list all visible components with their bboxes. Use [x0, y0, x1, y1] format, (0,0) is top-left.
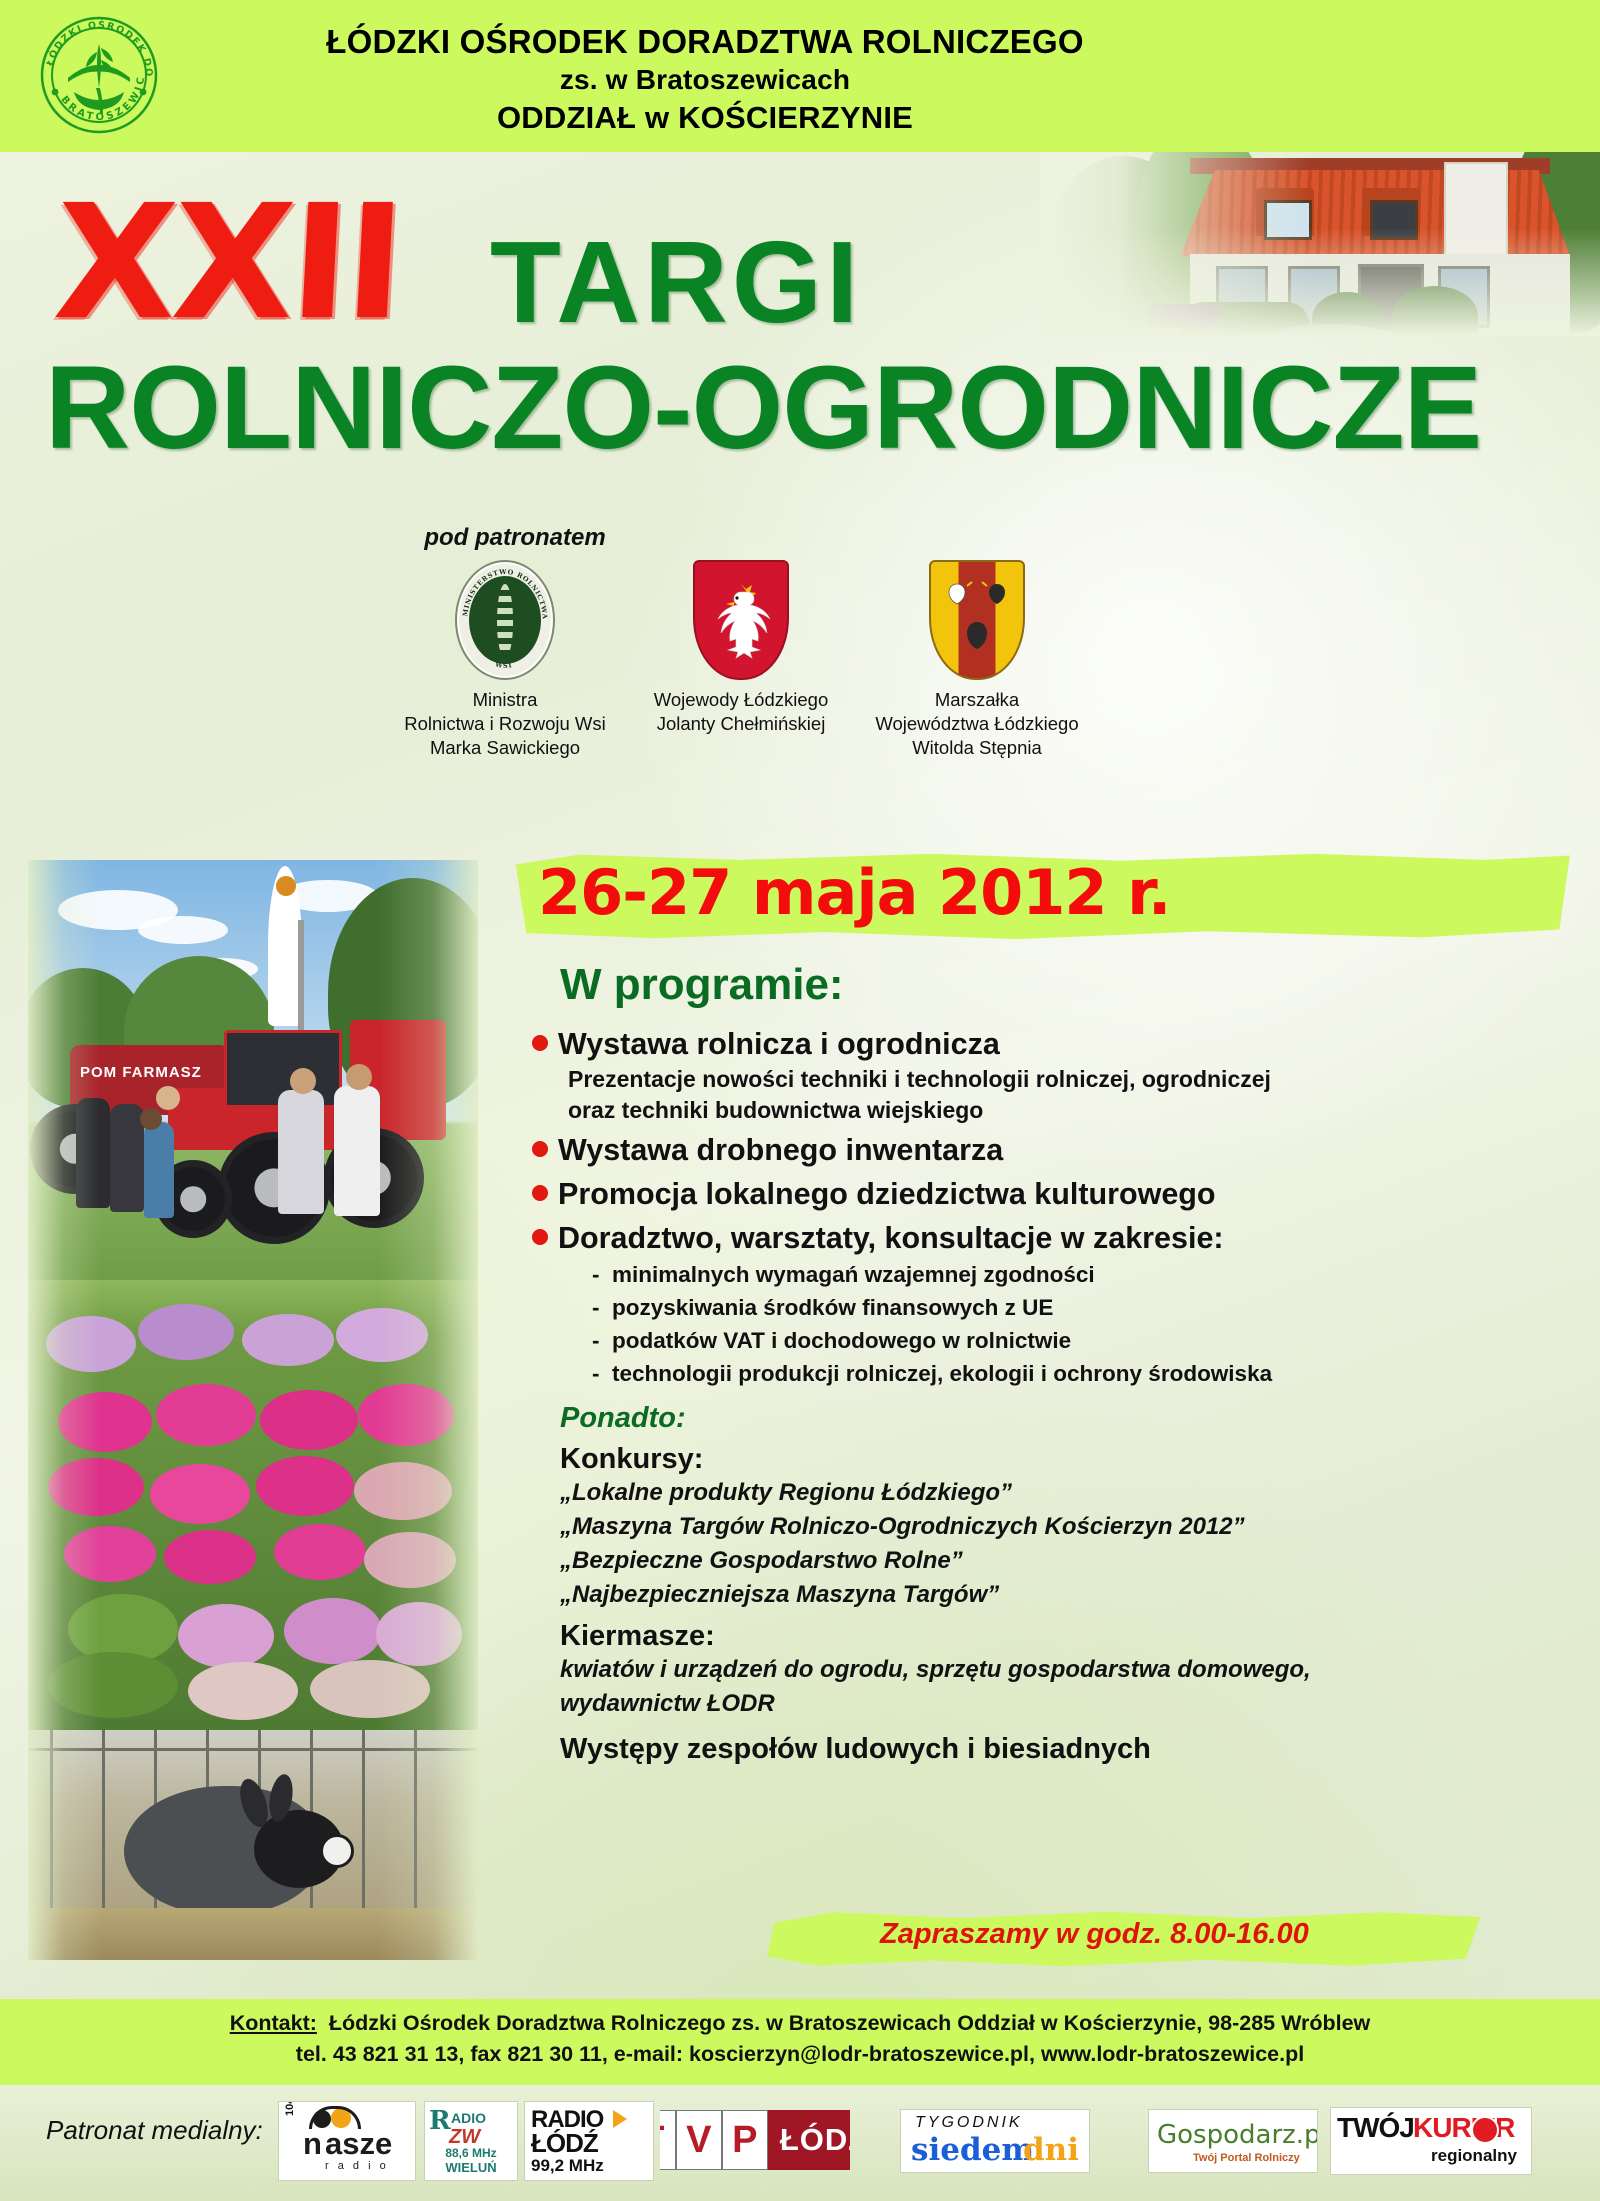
- svg-text:WSI: WSI: [493, 660, 513, 670]
- gospodarz-sub: Twój Portal Rolniczy: [1193, 2152, 1300, 2164]
- program-bullet: Wystawa drobnego inwentarza: [560, 1130, 1570, 1170]
- tygodnik-siedem-dni-logo[interactable]: TYGODNIK siedem dni: [900, 2109, 1090, 2173]
- program-bullet: Promocja lokalnego dziedzictwa kulturowe…: [560, 1174, 1570, 1214]
- program-heading: W programie:: [560, 960, 1570, 1010]
- tvp-letter-p: P: [722, 2110, 768, 2170]
- radio-zw-logo[interactable]: R ADIO ZW 88,6 MHz WIELUŃ: [424, 2101, 518, 2181]
- lodz-voivodeship-coat-of-arms-icon: [929, 560, 1025, 680]
- crest-marshal: Marszałka Województwa Łódzkiego Witolda …: [872, 560, 1082, 760]
- gospodarz-main: Gospodarz.pl: [1157, 2120, 1318, 2150]
- ponadto-heading: Ponadto:: [560, 1402, 1570, 1435]
- bullet-main-2: Promocja lokalnego dziedzictwa kulturowe…: [558, 1174, 1216, 1214]
- tvp-region: ŁÓDŹ: [768, 2110, 850, 2170]
- contact-bar: Kontakt: Łódzki Ośrodek Doradztwa Rolnic…: [0, 1999, 1600, 2079]
- tent-label: POM FARMASZ: [80, 1064, 202, 1081]
- bullet-dot-icon: [532, 1229, 548, 1245]
- siedem-word: siedem: [911, 2132, 1034, 2168]
- konkurs-item-0: „Lokalne produkty Regionu Łódzkiego”: [560, 1476, 1570, 1510]
- kurier-word1: TWÓJ: [1337, 2112, 1414, 2144]
- dash-item-1: - pozyskiwania środków finansowych z UE: [592, 1291, 1272, 1324]
- twoj-kurier-regionalny-logo[interactable]: TWÓJ KURIER regionalny: [1330, 2107, 1532, 2175]
- svg-text:MINISTERSTWO ROLNICTWA I ROZWO: MINISTERSTWO ROLNICTWA I ROZWOJU: [457, 562, 549, 623]
- header-line-3: ODDZIAŁ w KOŚCIERZYNIE: [200, 98, 1210, 138]
- nasze-radio-main: asze: [325, 2128, 392, 2159]
- crest-ministry-line1: Ministra: [400, 688, 610, 712]
- crest-marshal-line2: Województwa Łódzkiego: [872, 712, 1082, 736]
- tvp-letter-v: V: [676, 2110, 722, 2170]
- hydrangea-photo: [28, 1280, 478, 1730]
- header-title-block: ŁÓDZKI OŚRODEK DORADZTWA ROLNICZEGO zs. …: [200, 22, 1210, 138]
- header-line-1: ŁÓDZKI OŚRODEK DORADZTWA ROLNICZEGO: [200, 22, 1210, 62]
- photo-collage: POM FARMASZ: [28, 860, 498, 1960]
- media-top-divider: [0, 2079, 1600, 2085]
- kiermasz-item-0: kwiatów i urządzeń do ogrodu, sprzętu go…: [560, 1653, 1570, 1687]
- program-bullet: Doradztwo, warsztaty, konsultacje w zakr…: [560, 1218, 1570, 1390]
- program-bullet: Wystawa rolnicza i ogrodnicza Prezentacj…: [560, 1024, 1570, 1126]
- dni-word: dni: [1023, 2132, 1079, 2168]
- radio-lodz-freq: 99,2 MHz: [531, 2156, 604, 2176]
- header-line-2: zs. w Bratoszewicach: [200, 62, 1210, 98]
- ministry-of-agriculture-emblem-icon: MINISTERSTWO ROLNICTWA I ROZWOJU WSI: [455, 560, 555, 680]
- odr-logo-icon: ŁÓDZKI OŚRODEK DORADZTWA ROLNICZEGO BRAT…: [38, 14, 160, 136]
- nasze-radio-sub: r a d i o: [325, 2160, 389, 2172]
- nasze-radio-freq: 104.7 fm: [284, 2101, 296, 2116]
- gospodarz-pl-logo[interactable]: Gospodarz.pl Twój Portal Rolniczy: [1148, 2109, 1318, 2173]
- bullet-dot-icon: [532, 1141, 548, 1157]
- tygodnik-top: TYGODNIK: [915, 2114, 1023, 2132]
- kiermasz-item-1: wydawnictw ŁODR: [560, 1687, 1570, 1721]
- contact-label: Kontakt:: [230, 2011, 317, 2035]
- tvp-letter-t: T: [660, 2110, 676, 2170]
- title-word-targi: TARGI: [490, 224, 862, 340]
- bullet-dot-icon: [532, 1185, 548, 1201]
- program-section: W programie: Wystawa rolnicza i ogrodnic…: [560, 960, 1570, 1766]
- edition-number: XXII: [51, 188, 404, 338]
- contact-line-1: Kontakt: Łódzki Ośrodek Doradztwa Rolnic…: [0, 2008, 1600, 2039]
- crest-ministry-line2: Rolnictwa i Rozwoju Wsi: [400, 712, 610, 736]
- kiermasze-heading: Kiermasze:: [560, 1620, 1570, 1653]
- kurier-sub: regionalny: [1431, 2146, 1517, 2166]
- kurier-word2: KURIER: [1413, 2112, 1514, 2144]
- radio-zw-freq: 88,6 MHz: [425, 2146, 517, 2160]
- patronage-label: pod patronatem: [0, 524, 1030, 552]
- konkurs-item-1: „Maszyna Targów Rolniczo-Ogrodniczych Ko…: [560, 1510, 1570, 1544]
- dash-item-3: - technologii produkcji rolniczej, ekolo…: [592, 1357, 1272, 1390]
- crest-ministry-line3: Marka Sawickiego: [400, 736, 610, 760]
- performances-line: Występy zespołów ludowych i biesiadnych: [560, 1733, 1570, 1766]
- crest-voivode-line2: Jolanty Chełmińskiej: [636, 712, 846, 736]
- rabbit-photo: [28, 1730, 478, 1960]
- dash-text-2: podatków VAT i dochodowego w rolnictwie: [612, 1328, 1071, 1353]
- bullet-sub-0-1: oraz techniki budownictwa wiejskiego: [568, 1095, 1271, 1126]
- contact-line-2: tel. 43 821 31 13, fax 821 30 11, e-mail…: [0, 2039, 1600, 2070]
- event-date: 26-27 maja 2012 r.: [538, 856, 1170, 929]
- title-word-rolniczo-ogrodnicze: ROLNICZO-OGRODNICZE: [45, 348, 1481, 468]
- dash-text-0: minimalnych wymagań wzajemnej zgodności: [612, 1262, 1095, 1287]
- nasze-radio-logo[interactable]: 104.7 fm n asze r a d i o: [278, 2101, 416, 2181]
- bullet-dot-icon: [532, 1035, 548, 1051]
- tractor-fair-photo: POM FARMASZ: [28, 860, 478, 1280]
- radio-zw-city: WIELUŃ: [425, 2160, 517, 2175]
- crest-voivode: Wojewody Łódzkiego Jolanty Chełmińskiej: [636, 560, 846, 736]
- crest-marshal-line3: Witolda Stępnia: [872, 736, 1082, 760]
- konkurs-item-2: „Bezpieczne Gospodarstwo Rolne”: [560, 1544, 1570, 1578]
- dash-text-3: technologii produkcji rolniczej, ekologi…: [612, 1361, 1272, 1386]
- poland-coat-of-arms-icon: [693, 560, 789, 680]
- crest-marshal-line1: Marszałka: [872, 688, 1082, 712]
- contact-address: Łódzki Ośrodek Doradztwa Rolniczego zs. …: [329, 2011, 1370, 2035]
- dash-item-2: - podatków VAT i dochodowego w rolnictwi…: [592, 1324, 1272, 1357]
- konkursy-heading: Konkursy:: [560, 1443, 1570, 1476]
- bullet-main-3: Doradztwo, warsztaty, konsultacje w zakr…: [558, 1218, 1272, 1258]
- invite-hours: Zapraszamy w godz. 8.00-16.00: [880, 1918, 1309, 1951]
- poster-root: ŁÓDZKI OŚRODEK DORADZTWA ROLNICZEGO BRAT…: [0, 0, 1600, 2201]
- konkurs-item-3: „Najbezpieczniejsza Maszyna Targów”: [560, 1578, 1570, 1612]
- poster-header: ŁÓDZKI OŚRODEK DORADZTWA ROLNICZEGO BRAT…: [0, 0, 1600, 152]
- tvp-lodz-logo[interactable]: T V P ŁÓDŹ: [660, 2109, 850, 2171]
- dash-item-0: - minimalnych wymagań wzajemnej zgodnośc…: [592, 1258, 1272, 1291]
- media-patronage-label: Patronat medialny:: [46, 2115, 263, 2146]
- crest-voivode-line1: Wojewody Łódzkiego: [636, 688, 846, 712]
- crest-ministry: MINISTERSTWO ROLNICTWA I ROZWOJU WSI Min…: [400, 560, 610, 760]
- media-patronage-bar: Patronat medialny: 104.7 fm n asze r a d…: [0, 2079, 1600, 2201]
- radio-lodz-logo[interactable]: RADIO ŁÓDŹ 99,2 MHz: [524, 2101, 654, 2181]
- bullet-main-1: Wystawa drobnego inwentarza: [558, 1130, 1003, 1170]
- patronage-crests: MINISTERSTWO ROLNICTWA I ROZWOJU WSI Min…: [400, 560, 1080, 780]
- bullet-main-0: Wystawa rolnicza i ogrodnicza: [558, 1024, 1271, 1064]
- dash-text-1: pozyskiwania środków finansowych z UE: [612, 1295, 1053, 1320]
- bullet-sub-0-0: Prezentacje nowości techniki i technolog…: [568, 1064, 1271, 1095]
